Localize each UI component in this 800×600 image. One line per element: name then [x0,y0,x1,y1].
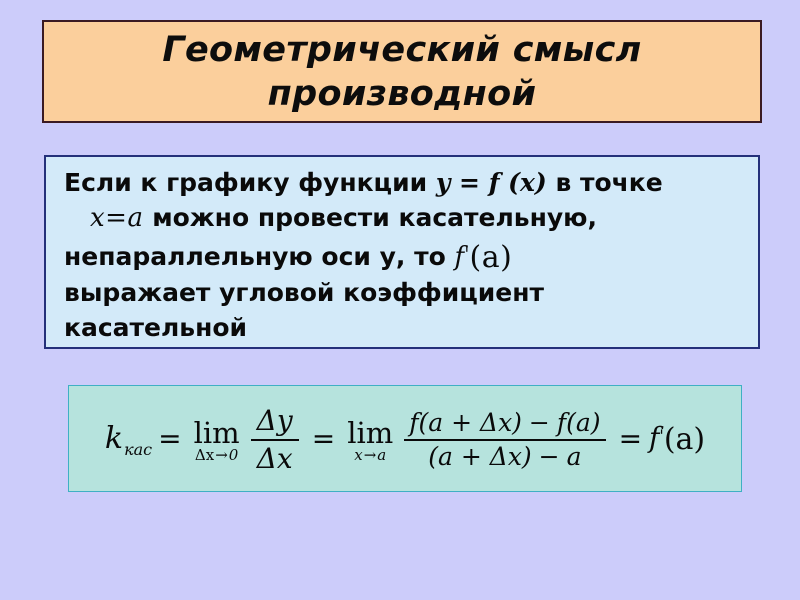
fraction-delta-y-over-delta-x: Δy Δx [251,405,299,474]
statement-line-3-text: непараллельную оси у, то [64,242,455,271]
limit-2-variable: x [354,446,362,464]
limit-2-target: a [377,446,386,464]
equals-sign-1: = [158,422,181,455]
denominator-right-term: a [567,442,582,471]
symbol-k-subscript: кас [124,440,152,459]
statement-line-1: Если к графику функции y = f (x) в точке [64,165,758,200]
result-f-prime-of-a: f'(a) [649,421,705,457]
numerator-argument-1: (a + Δx) [419,408,522,437]
function-notation-y-f-x: y = f (x) [436,168,547,197]
statement-line-1-prefix: Если к графику функции [64,168,436,197]
statement-line-2-text: можно провести касательную, [143,203,596,232]
math-argument-a: (a) [470,240,513,275]
limit-operator-x-to-a: lim x→a [347,419,393,463]
result-argument: (a) [664,422,705,457]
math-f: f [455,242,465,272]
title-line-1: Геометрический смысл [162,28,641,72]
fraction-1-bar [251,439,299,441]
limit-1-arrow-icon: → [215,446,228,464]
numerator-f-2: f [557,408,566,437]
result-f: f [649,421,659,454]
limit-1-target: 0 [229,446,239,464]
fraction-2-denominator: (a + Δx)−a [423,443,586,471]
limit-subscript-1: Δx→0 [195,448,238,463]
equals-sign-3: = [619,422,642,455]
fraction-1-numerator: Δy [251,405,299,436]
denominator-minus-sign: − [539,442,560,471]
limit-subscript-2: x→a [354,448,386,463]
limit-label-1: lim [194,419,240,447]
limit-operator-delta-x-to-zero: lim Δx→0 [194,419,240,463]
tangent-slope-equation: kкас = lim Δx→0 Δy Δx = lim x→a f(a + Δx… [105,404,705,473]
math-a: a [127,203,143,233]
statement-box: Если к графику функции y = f (x) в точке… [44,155,760,349]
equals-sign-2: = [312,422,335,455]
statement-line-2: x=a можно провести касательную, [64,200,758,236]
limit-label-2: lim [347,419,393,447]
symbol-k-tangent: kкас [105,421,151,456]
statement-line-5: касательной [64,310,758,345]
math-equals: = [105,203,127,233]
numerator-f-1: f [409,408,418,437]
formula-box: kкас = lim Δx→0 Δy Δx = lim x→a f(a + Δx… [68,385,742,492]
difference-quotient-fraction: f(a + Δx)−f(a) (a + Δx)−a [404,409,605,471]
limit-2-arrow-icon: → [364,446,377,464]
math-f-prime-of-a: f'(a) [455,242,513,272]
limit-1-variable: Δx [195,446,214,464]
fraction-1-denominator: Δx [251,443,299,474]
statement-line-1-suffix: в точке [547,168,663,197]
title-line-2: производной [268,72,537,116]
statement-line-4: выражает угловой коэффициент [64,275,758,310]
numerator-argument-2: (a) [566,408,600,437]
fraction-2-numerator: f(a + Δx)−f(a) [404,409,605,437]
numerator-minus-sign: − [529,408,550,437]
denominator-left-term: (a + Δx) [428,442,531,471]
math-x: x [90,203,105,233]
statement-line-3: непараллельную оси у, то f'(a) [64,236,758,275]
math-x-equals-a: x=a [90,203,143,233]
symbol-k: k [105,421,123,456]
title-box: Геометрический смысл производной [42,20,762,123]
fraction-2-bar [404,439,605,441]
